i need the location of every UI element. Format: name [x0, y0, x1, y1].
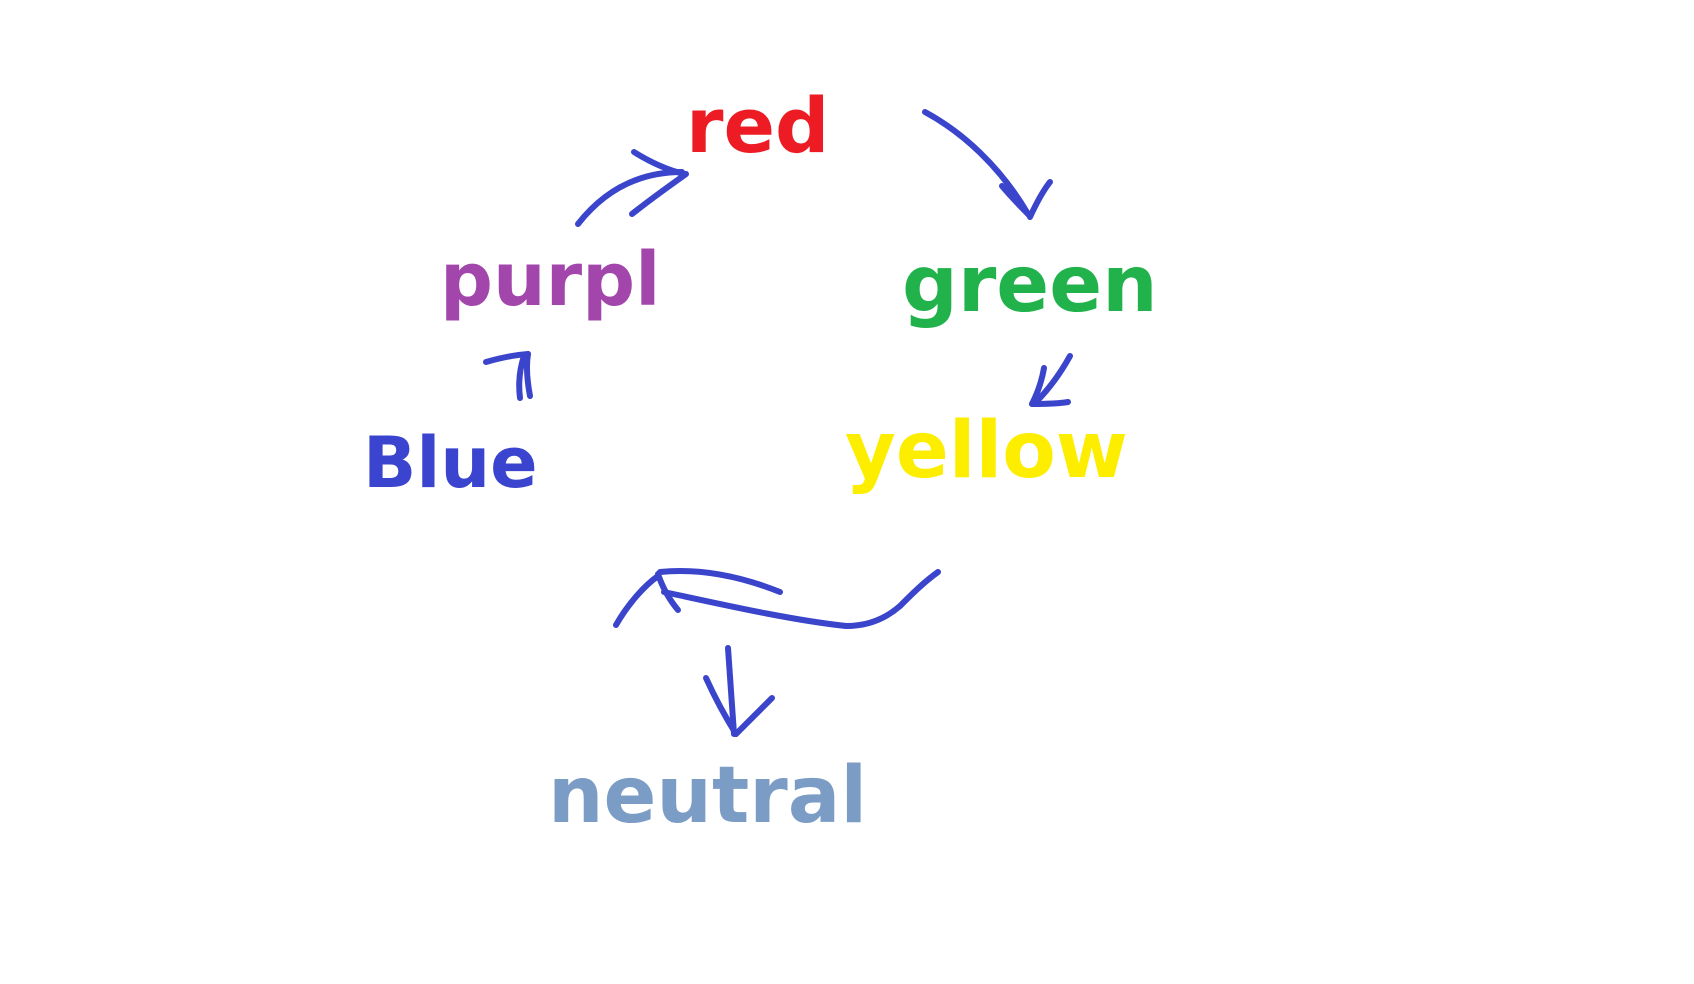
node-label-blue: Blue — [363, 428, 538, 498]
node-label-neutral: neutral — [548, 757, 867, 835]
arrow-red-to-green — [925, 112, 1050, 217]
arrow-merge-to-neutral — [706, 648, 772, 734]
arrow-blue-to-purpl — [486, 354, 530, 398]
node-label-green: green — [902, 246, 1158, 324]
arrow-bottom-merge-arc — [616, 571, 938, 626]
node-label-purpl: purpl — [440, 243, 660, 317]
arrow-green-to-yellow — [1032, 356, 1070, 404]
arrow-purpl-to-red — [578, 152, 686, 224]
node-label-yellow: yellow — [845, 412, 1128, 490]
diagram-canvas: red green yellow neutral Blue purpl — [0, 0, 1694, 984]
node-label-red: red — [686, 88, 829, 164]
